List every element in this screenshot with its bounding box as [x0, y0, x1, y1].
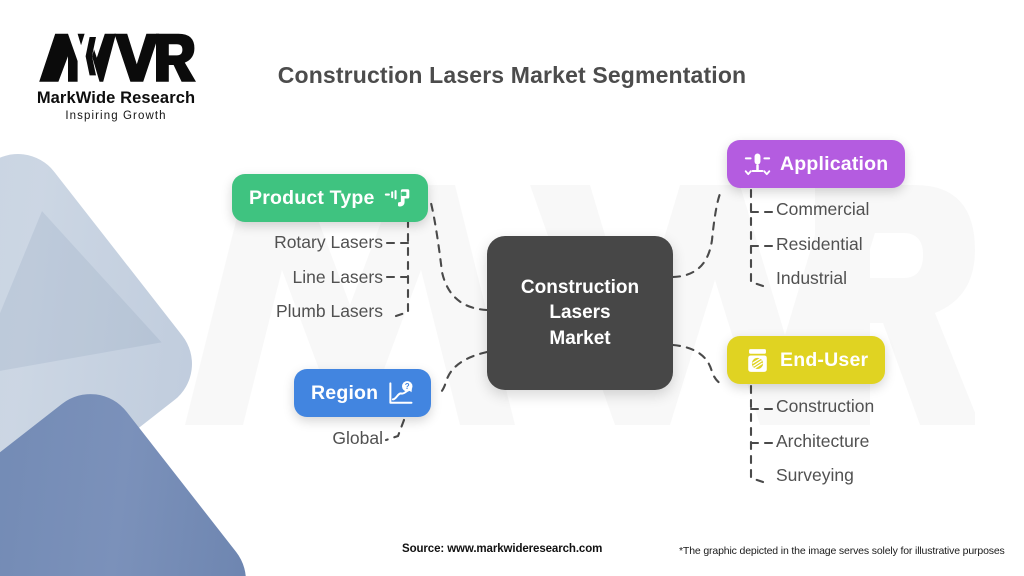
sub-item[interactable]: Plumb Lasers: [180, 303, 383, 321]
center-line-2: Lasers: [549, 302, 610, 323]
center-line-1: Construction: [521, 277, 639, 298]
svg-text:?: ?: [405, 382, 410, 391]
sub-item[interactable]: Line Lasers: [180, 269, 383, 287]
source-text: Source: www.markwideresearch.com: [402, 543, 602, 555]
sub-items-product-type: Rotary Lasers Line Lasers Plumb Lasers: [180, 234, 383, 338]
sub-items-application: Commercial Residential Industrial: [776, 201, 869, 305]
branch-pill-end-user[interactable]: End-User: [727, 336, 885, 384]
branch-label-product-type: Product Type: [249, 187, 375, 210]
page-title: Construction Lasers Market Segmentation: [0, 62, 1024, 89]
decorative-square-light: [0, 135, 211, 556]
branch-pill-region[interactable]: Region ?: [294, 369, 431, 417]
sub-item[interactable]: Commercial: [776, 201, 869, 219]
brand-tagline: Inspiring Growth: [26, 110, 206, 122]
laser-level-icon: [744, 151, 771, 178]
branch-label-region: Region: [311, 382, 378, 405]
sub-item[interactable]: Surveying: [776, 467, 874, 485]
laser-gun-icon: [384, 185, 411, 212]
sub-items-end-user: Construction Architecture Surveying: [776, 398, 874, 502]
decorative-triangle: [0, 195, 162, 376]
sub-item[interactable]: Global: [180, 430, 383, 448]
infographic-canvas: MarkWide Research Inspiring Growth Const…: [0, 0, 1024, 576]
decorative-square-dark: [0, 376, 264, 576]
branch-label-application: Application: [780, 153, 888, 176]
brand-name: MarkWide Research: [26, 89, 206, 108]
center-node-label: Construction Lasers Market: [521, 275, 639, 351]
branch-pill-product-type[interactable]: Product Type: [232, 174, 428, 222]
disclaimer-text: *The graphic depicted in the image serve…: [679, 545, 1005, 557]
sub-item[interactable]: Construction: [776, 398, 874, 416]
sub-items-region: Global: [180, 430, 383, 448]
center-line-3: Market: [549, 328, 610, 349]
sub-item[interactable]: Industrial: [776, 270, 869, 288]
branch-label-end-user: End-User: [780, 349, 868, 372]
chart-question-icon: ?: [387, 380, 414, 407]
branch-pill-application[interactable]: Application: [727, 140, 905, 188]
sub-item[interactable]: Residential: [776, 236, 869, 254]
center-node[interactable]: Construction Lasers Market: [487, 236, 673, 390]
container-icon: [744, 347, 771, 374]
sub-item[interactable]: Architecture: [776, 433, 874, 451]
sub-item[interactable]: Rotary Lasers: [180, 234, 383, 252]
